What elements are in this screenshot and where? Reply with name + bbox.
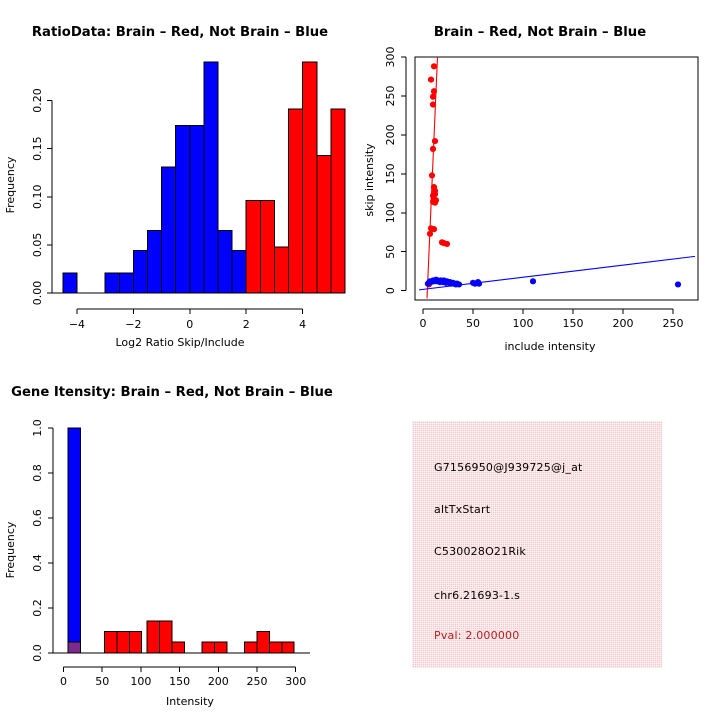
x-axis-tick-label: 250 — [247, 675, 268, 688]
ratio-histogram-plot-area: 0.000.050.100.150.20−4−2024 — [31, 62, 345, 331]
x-axis-tick-label: 250 — [663, 317, 684, 330]
y-axis-tick-label: 0 — [384, 287, 397, 294]
intensity-scatter-svg: Brain – Red, Not Brain – Blue 0501001502… — [360, 0, 720, 360]
x-axis-tick-label: 200 — [208, 675, 229, 688]
annotation-probe-id: G7156950@J939725@j_at — [434, 461, 583, 474]
histogram-bar — [282, 642, 294, 653]
histogram-bar — [119, 273, 133, 293]
y-axis-tick-label: 0.4 — [31, 554, 44, 572]
x-axis-tick-label: 0 — [420, 317, 427, 330]
gene-histogram-xlabel: Intensity — [166, 695, 214, 708]
x-axis-tick-label: 50 — [466, 317, 480, 330]
y-axis-tick-label: 0.0 — [31, 644, 44, 662]
annotation-pvalue: Pval: 2.000000 — [434, 629, 519, 642]
histogram-bar — [68, 642, 80, 653]
scatter-point — [431, 88, 437, 94]
ratio-histogram-title: RatioData: Brain – Red, Not Brain – Blue — [32, 25, 328, 40]
y-axis-tick-label: 250 — [384, 85, 397, 106]
scatter-data-group — [419, 57, 695, 298]
y-axis-tick-label: 0.8 — [31, 464, 44, 482]
scatter-point — [431, 63, 437, 69]
histogram-bar — [303, 62, 317, 293]
annotation-gene-symbol: C530028O21Rik — [434, 545, 526, 558]
y-axis-tick-label: 150 — [384, 163, 397, 184]
intensity-scatter-plot-area: 050100150200250050100150200250300 — [384, 47, 698, 331]
panel-gene-histogram: Gene Itensity: Brain – Red, Not Brain – … — [0, 360, 360, 720]
plot-box-frame — [415, 57, 698, 300]
x-axis-tick-label: 150 — [169, 675, 190, 688]
histogram-bar — [105, 632, 117, 653]
scatter-point — [428, 76, 434, 82]
y-axis-tick-label: 0.15 — [31, 136, 44, 161]
scatter-point — [530, 278, 536, 284]
x-axis-tick-label: 200 — [613, 317, 634, 330]
histogram-bar — [289, 109, 303, 293]
histogram-bar — [172, 642, 184, 653]
y-axis-tick-label: 0.05 — [31, 233, 44, 258]
scatter-point — [444, 241, 450, 247]
ratio-histogram-ylabel: Frequency — [4, 156, 17, 213]
x-axis-tick-label: 300 — [285, 675, 306, 688]
intensity-scatter-xlabel: include intensity — [504, 340, 596, 353]
histogram-bar — [176, 126, 190, 293]
histogram-bar — [232, 251, 246, 293]
y-axis-tick-label: 0.10 — [31, 185, 44, 210]
scatter-point — [430, 94, 436, 100]
gene-histogram-ylabel: Frequency — [4, 521, 17, 578]
histogram-bar — [317, 155, 331, 293]
y-axis-tick-label: 1.0 — [31, 419, 44, 437]
scatter-point — [429, 172, 435, 178]
scatter-point — [425, 281, 431, 287]
scatter-point — [470, 280, 476, 286]
histogram-bar — [68, 428, 80, 653]
histogram-bar — [105, 273, 119, 293]
gene-histogram-svg: Gene Itensity: Brain – Red, Not Brain – … — [0, 360, 360, 720]
annotation-locus: chr6.21693-1.s — [434, 589, 520, 602]
x-axis-tick-label: 2 — [243, 318, 250, 331]
x-axis-tick-label: 0 — [60, 675, 67, 688]
x-axis-tick-label: 0 — [186, 318, 193, 331]
gene-histogram-title: Gene Itensity: Brain – Red, Not Brain – … — [11, 385, 333, 400]
panel-annotation: G7156950@J939725@j_at altTxStart C530028… — [360, 360, 720, 720]
histogram-bar — [204, 62, 218, 293]
x-axis-tick-label: 4 — [299, 318, 306, 331]
ratio-histogram-svg: RatioData: Brain – Red, Not Brain – Blue… — [0, 0, 360, 360]
scatter-point — [675, 281, 681, 287]
histogram-bar — [331, 109, 345, 293]
y-axis-tick-label: 0.20 — [31, 88, 44, 113]
histogram-bar — [190, 126, 204, 293]
x-axis-tick-label: −4 — [69, 318, 85, 331]
histogram-bar — [246, 201, 260, 293]
histogram-bar — [202, 642, 214, 653]
x-axis-tick-label: 50 — [95, 675, 109, 688]
intensity-scatter-title: Brain – Red, Not Brain – Blue — [434, 25, 646, 40]
histogram-bar — [147, 230, 161, 293]
histogram-bar — [133, 251, 147, 293]
y-axis-tick-label: 0.2 — [31, 599, 44, 617]
histogram-bar — [274, 247, 288, 293]
histogram-bar — [63, 273, 77, 293]
histogram-bar — [218, 230, 232, 293]
gene-histogram-plot-area: 0.00.20.40.60.81.0050100150200250300 — [31, 419, 310, 688]
histogram-bar — [129, 632, 141, 653]
x-axis-tick-label: 100 — [513, 317, 534, 330]
r-graphics-page: RatioData: Brain – Red, Not Brain – Blue… — [0, 0, 720, 720]
intensity-scatter-ylabel: skip intensity — [363, 143, 376, 217]
histogram-bar — [162, 167, 176, 293]
x-axis-tick-label: 100 — [130, 675, 151, 688]
y-axis-tick-label: 200 — [384, 124, 397, 145]
y-axis-tick-label: 100 — [384, 202, 397, 223]
histogram-bar — [269, 642, 281, 653]
scatter-point — [430, 101, 436, 107]
y-axis-tick-label: 0.00 — [31, 281, 44, 306]
histogram-bar — [257, 632, 269, 653]
annotation-event-type: altTxStart — [434, 503, 490, 516]
x-axis-tick-label: −2 — [125, 318, 141, 331]
y-axis-tick-label: 300 — [384, 47, 397, 68]
histogram-bar — [260, 201, 274, 293]
panel-ratio-histogram: RatioData: Brain – Red, Not Brain – Blue… — [0, 0, 360, 360]
histogram-bar — [160, 621, 172, 653]
scatter-point — [432, 138, 438, 144]
histogram-bar — [117, 632, 129, 653]
y-axis-tick-label: 50 — [384, 245, 397, 259]
scatter-point — [430, 146, 436, 152]
histogram-bar — [147, 621, 159, 653]
ratio-histogram-xlabel: Log2 Ratio Skip/Include — [115, 336, 244, 349]
scatter-point — [427, 231, 433, 237]
y-axis-tick-label: 0.6 — [31, 509, 44, 527]
scatter-point — [432, 200, 438, 206]
panel-intensity-scatter: Brain – Red, Not Brain – Blue 0501001502… — [360, 0, 720, 360]
annotation-box: G7156950@J939725@j_at altTxStart C530028… — [412, 421, 662, 668]
histogram-bar — [245, 642, 257, 653]
x-axis-tick-label: 150 — [563, 317, 584, 330]
histogram-bar — [214, 642, 226, 653]
